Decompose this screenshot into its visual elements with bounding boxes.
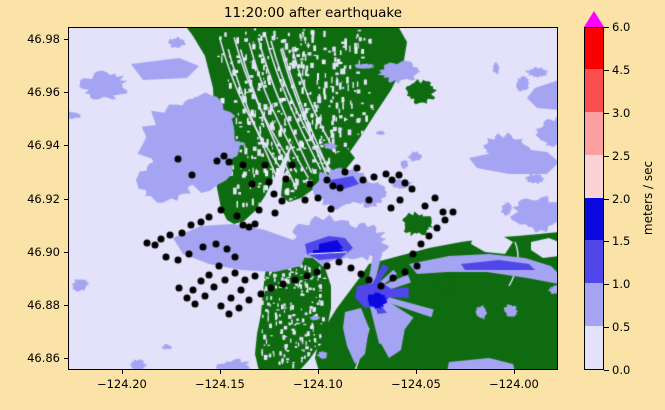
x-axis-tick-label: −124.10	[293, 377, 343, 391]
colorbar-tick	[604, 156, 609, 157]
y-axis-tick	[64, 145, 68, 146]
colorbar-tick-label: 2.5	[612, 149, 630, 163]
colorbar-tick	[604, 370, 609, 371]
y-axis-tick-label: 46.88	[10, 298, 60, 312]
colorbar-tick	[604, 241, 609, 242]
y-axis-tick	[64, 39, 68, 40]
colorbar-tick-label: 1.0	[612, 277, 630, 291]
x-axis-tick	[318, 370, 319, 374]
colorbar-band	[585, 283, 603, 326]
y-axis-tick	[64, 199, 68, 200]
x-axis-tick-label: −124.20	[97, 377, 147, 391]
colorbar-band	[585, 198, 603, 241]
colorbar-band	[585, 69, 603, 112]
colorbar-tick	[604, 199, 609, 200]
colorbar-tick-label: 1.5	[612, 234, 630, 248]
colorbar-tick-label: 0.0	[612, 363, 630, 377]
y-axis-tick	[64, 252, 68, 253]
colorbar-tick	[604, 113, 609, 114]
colorbar-over-arrow-icon	[584, 11, 604, 27]
y-axis-tick	[64, 358, 68, 359]
colorbar-gradient	[584, 27, 604, 370]
colorbar-band	[585, 27, 603, 69]
map-axes	[68, 27, 558, 370]
y-axis-tick-label: 46.86	[10, 351, 60, 365]
colorbar-tick	[604, 70, 609, 71]
y-axis-tick-label: 46.94	[10, 138, 60, 152]
y-axis-tick	[64, 92, 68, 93]
velocity-heatmap	[69, 28, 558, 370]
x-axis-tick-label: −124.15	[195, 377, 245, 391]
colorbar-band	[585, 112, 603, 155]
y-axis-tick-label: 46.92	[10, 192, 60, 206]
colorbar-tick	[604, 27, 609, 28]
colorbar-band	[585, 240, 603, 283]
colorbar: 0.00.51.01.52.02.53.04.56.0	[584, 27, 604, 370]
colorbar-axis-label: meters / sec	[641, 161, 655, 235]
page-title: 11:20:00 after earthquake	[68, 4, 558, 22]
x-axis-tick	[416, 370, 417, 374]
y-axis-tick	[64, 305, 68, 306]
y-axis-tick-label: 46.98	[10, 32, 60, 46]
colorbar-tick-label: 0.5	[612, 320, 630, 334]
colorbar-tick-label: 2.0	[612, 192, 630, 206]
colorbar-tick-label: 3.0	[612, 106, 630, 120]
figure-canvas: 11:20:00 after earthquake 0.00.51.01.52.…	[0, 0, 665, 410]
colorbar-tick-label: 4.5	[612, 63, 630, 77]
colorbar-tick	[604, 327, 609, 328]
colorbar-band	[585, 326, 603, 369]
x-axis-tick	[220, 370, 221, 374]
y-axis-tick-label: 46.90	[10, 245, 60, 259]
colorbar-band	[585, 155, 603, 198]
x-axis-tick-label: −124.00	[489, 377, 539, 391]
colorbar-tick	[604, 284, 609, 285]
y-axis-tick-label: 46.96	[10, 85, 60, 99]
x-axis-tick-label: −124.05	[391, 377, 441, 391]
colorbar-tick-label: 6.0	[612, 20, 630, 34]
x-axis-tick	[122, 370, 123, 374]
x-axis-tick	[514, 370, 515, 374]
